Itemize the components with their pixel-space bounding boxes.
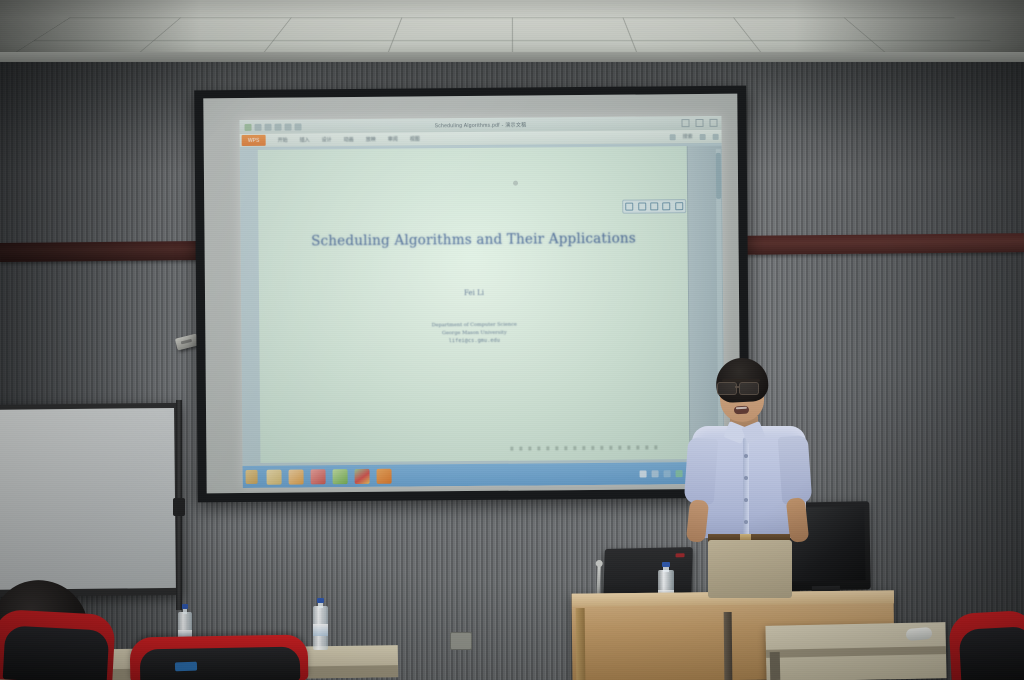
window-controls[interactable] <box>681 119 717 127</box>
ribbon-tab-0[interactable]: 开始 <box>278 137 288 144</box>
image-icon[interactable] <box>650 202 658 210</box>
chair-seat-black <box>140 647 301 680</box>
ribbon-tab-6[interactable]: 视图 <box>410 135 420 142</box>
input-method-icon[interactable] <box>664 470 671 477</box>
floating-toolbar[interactable] <box>622 199 686 214</box>
mouse-cursor <box>513 181 518 186</box>
minimize-button[interactable] <box>681 119 689 127</box>
taskbar-app-icons[interactable] <box>267 468 392 484</box>
help-icon[interactable] <box>700 133 706 139</box>
presenter-sleeve-left <box>684 437 719 505</box>
windows-taskbar[interactable] <box>242 462 724 488</box>
ribbon-tab-5[interactable]: 审阅 <box>388 136 398 143</box>
chair-seat-black <box>3 625 110 680</box>
start-button[interactable] <box>246 470 258 484</box>
scrollbar-thumb[interactable] <box>716 153 721 199</box>
pen-icon[interactable] <box>663 202 671 210</box>
window-title: Scheduling Algorithms.pdf - 演示文稿 <box>240 119 722 130</box>
bottle-cap <box>317 598 324 603</box>
presenter-sleeve-right <box>778 435 813 505</box>
presenter-mouth <box>734 406 749 415</box>
slide-canvas: Scheduling Algorithms and Their Applicat… <box>258 146 691 463</box>
volume-icon[interactable] <box>676 470 683 477</box>
presenter-speaking <box>686 358 812 598</box>
search-label[interactable]: 搜索 <box>683 133 693 140</box>
lens-right <box>739 382 759 395</box>
slide-title: Scheduling Algorithms and Their Applicat… <box>258 230 688 250</box>
file-explorer-icon[interactable] <box>267 469 282 484</box>
close-button[interactable] <box>709 119 717 127</box>
ribbon-tab-2[interactable]: 设计 <box>322 136 332 143</box>
shirt-button <box>744 520 748 524</box>
mail-icon[interactable] <box>333 469 348 484</box>
shirt-button <box>744 454 748 458</box>
restore-button[interactable] <box>695 119 703 127</box>
whiteboard-surface <box>0 408 176 590</box>
chair-seat-black <box>959 626 1024 680</box>
ribbon-tab-3[interactable]: 动画 <box>344 136 354 143</box>
water-bottle <box>313 598 328 650</box>
collapse-ribbon-icon[interactable] <box>713 133 719 139</box>
chair-label-tag <box>175 662 197 672</box>
bottle-cap <box>182 604 189 609</box>
whiteboard-clip <box>173 498 185 516</box>
document-area: Scheduling Algorithms and Their Applicat… <box>240 143 725 466</box>
search-icon[interactable] <box>670 134 676 140</box>
side-table-leg <box>770 652 781 680</box>
eyeglasses-icon <box>717 382 767 393</box>
projection-screen: Scheduling Algorithms.pdf - 演示文稿 WPS 开始 … <box>194 86 750 503</box>
slide-author: Fei Li <box>259 287 689 299</box>
ribbon-tab-4[interactable]: 放映 <box>366 136 376 143</box>
lens-left <box>717 382 737 395</box>
desk-leg <box>576 608 586 680</box>
ribbon-tab-1[interactable]: 插入 <box>300 136 310 143</box>
bottle-cap <box>662 562 670 567</box>
save-icon[interactable] <box>625 203 633 211</box>
whiteboard <box>0 403 182 597</box>
shirt-button <box>744 498 748 502</box>
folder-icon[interactable] <box>289 469 304 484</box>
refresh-icon[interactable] <box>675 202 683 210</box>
projected-image: Scheduling Algorithms.pdf - 演示文稿 WPS 开始 … <box>239 116 724 488</box>
shirt-button <box>744 476 748 480</box>
chrome-icon[interactable] <box>355 468 370 483</box>
cloud-icon[interactable] <box>640 470 647 477</box>
wps-icon[interactable] <box>377 468 392 483</box>
wall-outlet <box>450 632 472 650</box>
slide-footer-marks <box>510 445 660 450</box>
browser-icon[interactable] <box>311 469 326 484</box>
bottle-label <box>313 624 328 636</box>
font-icon[interactable] <box>638 202 646 210</box>
slide-affiliation: Department of Computer Science George Ma… <box>259 319 689 347</box>
network-icon[interactable] <box>652 470 659 477</box>
file-menu-tab[interactable]: WPS <box>242 135 266 146</box>
ribbon-right-controls[interactable]: 搜索 <box>670 133 719 140</box>
lecture-hall-photo: Scheduling Algorithms.pdf - 演示文稿 WPS 开始 … <box>0 0 1024 680</box>
screen-surface: Scheduling Algorithms.pdf - 演示文稿 WPS 开始 … <box>203 94 740 494</box>
presenter-pants <box>708 540 792 598</box>
desk-leg <box>724 612 733 680</box>
